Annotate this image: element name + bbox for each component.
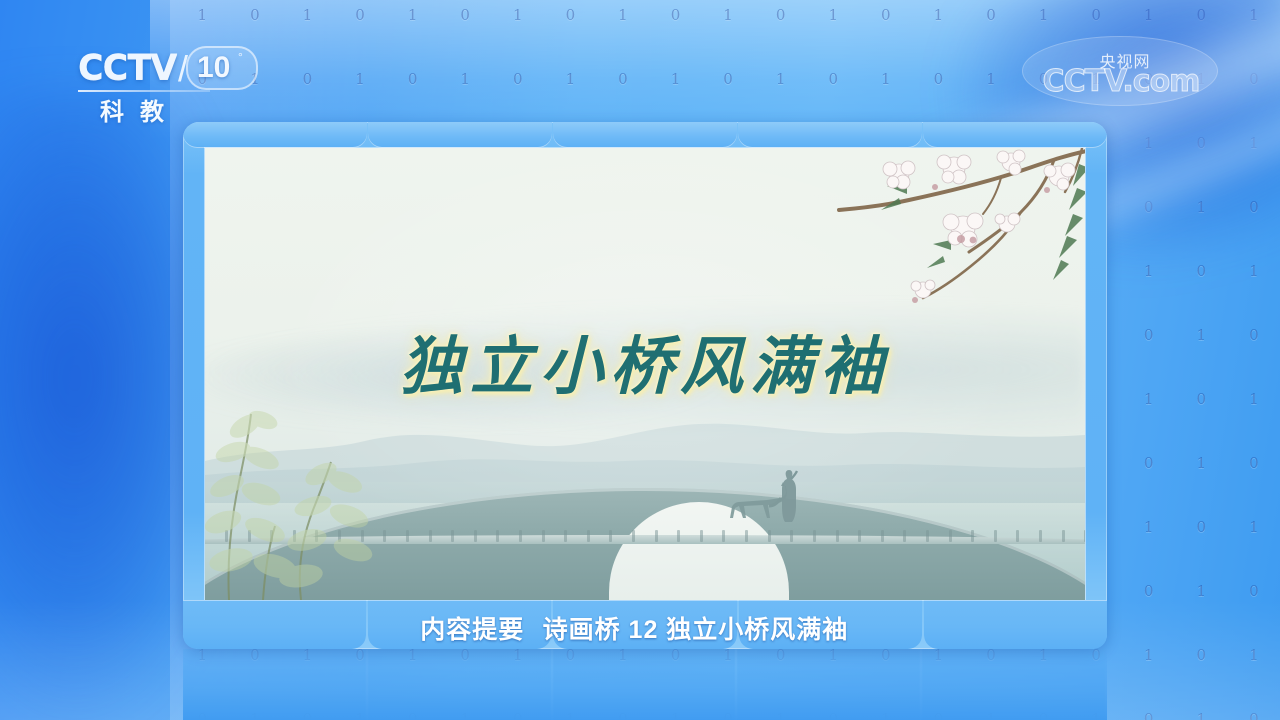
binary-digit: 0	[1122, 456, 1175, 471]
bridge-post	[429, 530, 432, 542]
bridge-post	[609, 530, 612, 542]
binary-digit: 1	[491, 8, 544, 23]
bridge-post	[655, 530, 658, 542]
bridge-post	[858, 530, 861, 542]
program-title-label: 诗画桥 12 独立小桥风满袖	[543, 610, 849, 646]
binary-digit: 1	[597, 8, 650, 23]
bridge-post	[994, 530, 997, 542]
binary-digit: 0	[1175, 264, 1228, 279]
binary-digit: 1	[1228, 264, 1280, 279]
infobar-segment	[924, 600, 1107, 649]
binary-digit: 1	[1175, 328, 1228, 343]
binary-digit: 0	[1228, 456, 1280, 471]
binary-digit: 1	[386, 8, 439, 23]
bridge-post	[519, 530, 522, 542]
bridge-post	[1084, 530, 1085, 542]
bridge-post	[542, 530, 545, 542]
degree-icon: °	[238, 50, 243, 64]
section-label: 内容提要	[420, 610, 524, 646]
video-panel: 独立小桥风满袖	[183, 122, 1107, 649]
binary-digit: 0	[491, 72, 544, 87]
channel-number-badge: 10 °	[186, 46, 258, 90]
cctv10-channel-logo: CCTV / 10 ° 科教	[78, 48, 253, 120]
person-silhouette-icon	[780, 470, 798, 522]
bridge-post	[881, 530, 884, 542]
binary-digit: 0	[544, 8, 597, 23]
infobar-segment	[183, 600, 366, 649]
binary-digit: 0	[439, 8, 492, 23]
binary-digit: 1	[1175, 456, 1228, 471]
binary-digit: 0	[807, 72, 860, 87]
binary-digit: 0	[1175, 392, 1228, 407]
binary-digit: 0	[1228, 584, 1280, 599]
bridge-post	[926, 530, 929, 542]
binary-digit: 1	[281, 8, 334, 23]
bridge-post	[406, 530, 409, 542]
bridge-post	[587, 530, 590, 542]
binary-digit: 0	[229, 8, 282, 23]
panel-reflection	[183, 649, 1107, 720]
bridge-post	[564, 530, 567, 542]
bridge-post	[1062, 530, 1065, 542]
binary-digit: 1	[860, 72, 913, 87]
binary-digit: 0	[1228, 328, 1280, 343]
binary-digit: 1	[1228, 520, 1280, 535]
binary-digit: 0	[649, 8, 702, 23]
binary-digit: 0	[334, 8, 387, 23]
binary-digit: 1	[649, 72, 702, 87]
bridge-post	[903, 530, 906, 542]
bridge-post	[632, 530, 635, 542]
cctv-website-watermark: 央视网 CCTV.com	[1022, 36, 1218, 106]
binary-digit: 0	[281, 72, 334, 87]
binary-digit: 0	[386, 72, 439, 87]
blossom-branch-icon	[811, 148, 1085, 330]
binary-digit: 0	[1175, 520, 1228, 535]
program-info-bar: 内容提要 诗画桥 12 独立小桥风满袖	[183, 600, 1107, 649]
binary-digit: 1	[1175, 584, 1228, 599]
bridge-post	[949, 530, 952, 542]
binary-digit: 1	[439, 72, 492, 87]
binary-digit: 0	[1122, 584, 1175, 599]
bridge-post	[836, 530, 839, 542]
bridge-post	[700, 530, 703, 542]
reflection-fade	[183, 649, 1107, 720]
bridge-post	[790, 530, 793, 542]
bridge-post	[474, 530, 477, 542]
foliage-icon	[205, 370, 385, 600]
bridge-post	[1039, 530, 1042, 542]
binary-digit: 1	[807, 8, 860, 23]
bridge-post	[745, 530, 748, 542]
bridge-post	[496, 530, 499, 542]
bridge-post	[1016, 530, 1019, 542]
binary-digit: 0	[754, 8, 807, 23]
panel-tab[interactable]	[183, 122, 367, 148]
tv-broadcast-screen: 1010101010101010101010101010101010101010…	[0, 0, 1280, 720]
binary-digit: 1	[544, 72, 597, 87]
panel-tab-strip	[183, 122, 1107, 148]
bridge-post	[451, 530, 454, 542]
infobar-segment: 诗画桥 12 独立小桥风满袖	[739, 600, 922, 649]
panel-tab[interactable]	[738, 122, 922, 148]
bridge-post	[768, 530, 771, 542]
binary-digit: 1	[1228, 392, 1280, 407]
video-viewport[interactable]: 独立小桥风满袖	[205, 148, 1085, 600]
bridge-post	[722, 530, 725, 542]
binary-digit: 0	[1122, 328, 1175, 343]
binary-digit: 1	[1122, 392, 1175, 407]
infobar-segment: 内容提要	[368, 600, 551, 649]
panel-tab[interactable]	[553, 122, 737, 148]
bridge-post	[677, 530, 680, 542]
bridge-post	[971, 530, 974, 542]
binary-digit: 1	[702, 8, 755, 23]
channel-name-label: 科教	[100, 92, 180, 127]
binary-digit: 1	[1122, 520, 1175, 535]
binary-digit: 0	[860, 8, 913, 23]
panel-tab[interactable]	[368, 122, 552, 148]
binary-digit: 1	[754, 72, 807, 87]
binary-digit: 1	[176, 8, 229, 23]
binary-digit: 0	[702, 72, 755, 87]
panel-tab[interactable]	[923, 122, 1107, 148]
watermark-site-en: CCTV.com	[1028, 64, 1214, 99]
binary-digit: 0	[597, 72, 650, 87]
channel-number: 10	[197, 51, 230, 85]
binary-digit: 1	[334, 72, 387, 87]
bridge-post	[813, 530, 816, 542]
